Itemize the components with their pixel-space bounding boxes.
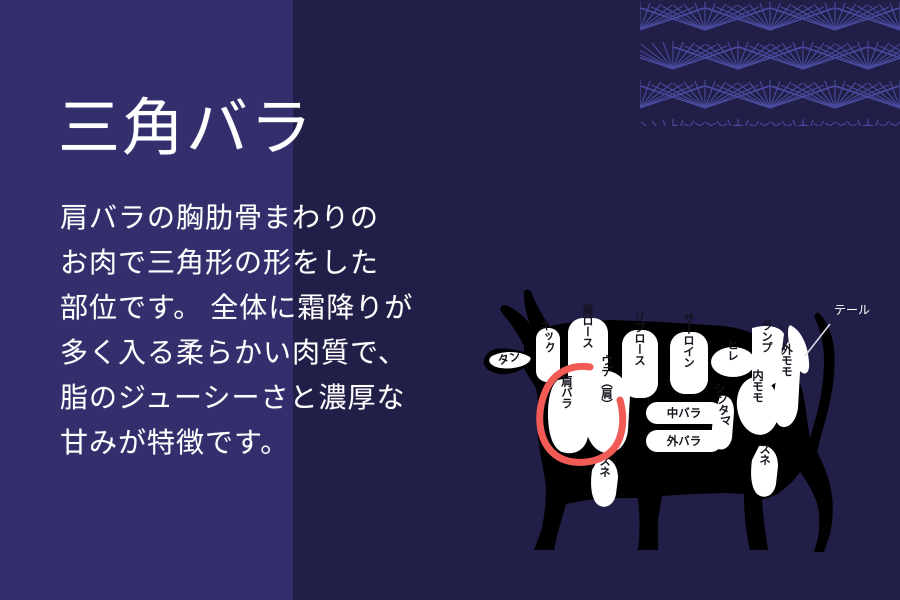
cut-label-soto-bara: 外バラ <box>666 434 702 448</box>
description-line: 甘みが特徴です。 <box>60 421 480 466</box>
japanese-fan-pattern <box>640 0 900 126</box>
slide-canvas: 三角バラ 肩バラの胸肋骨まわりの お肉で三角形の形をした 部位です。 全体に霜降… <box>0 0 900 600</box>
cut-label-sune-rear: スネ <box>758 443 772 465</box>
cut-label-soto-momo: 外モモ <box>780 343 794 377</box>
cut-label-sirloin: サーロイン <box>682 313 696 368</box>
cut-label-ude: ウデ（肩） <box>600 355 614 410</box>
description-line: 部位です。 全体に霜降りが <box>60 286 480 331</box>
description-line: お肉で三角形の形をした <box>60 241 480 286</box>
cut-label-naka-bara: 中バラ <box>667 406 702 420</box>
cut-label-uchi-momo: 内モモ <box>751 369 765 403</box>
beef-cut-chart: タン 中バラ 外バラ ネック 肩ロース リブロース サーロイン ヒレ ランプ 外… <box>462 272 892 557</box>
description-text: 肩バラの胸肋骨まわりの お肉で三角形の形をした 部位です。 全体に霜降りが 多く… <box>60 196 480 466</box>
cut-label-hire: ヒレ <box>726 339 740 361</box>
cut-label-rib-loin: リブロース <box>633 311 647 366</box>
cut-label-kata-bara: 肩バラ <box>560 376 574 409</box>
description-line: 多く入る柔らかい肉質で、 <box>60 331 480 376</box>
description-line: 肩バラの胸肋骨まわりの <box>60 196 480 241</box>
page-title: 三角バラ <box>58 94 314 165</box>
cut-label-rump: ランプ <box>760 320 774 353</box>
description-line: 脂のジューシーさと濃厚な <box>60 376 480 421</box>
cut-label-tail: テール <box>834 303 870 317</box>
cut-label-kata-loin: 肩ロース <box>581 304 595 348</box>
